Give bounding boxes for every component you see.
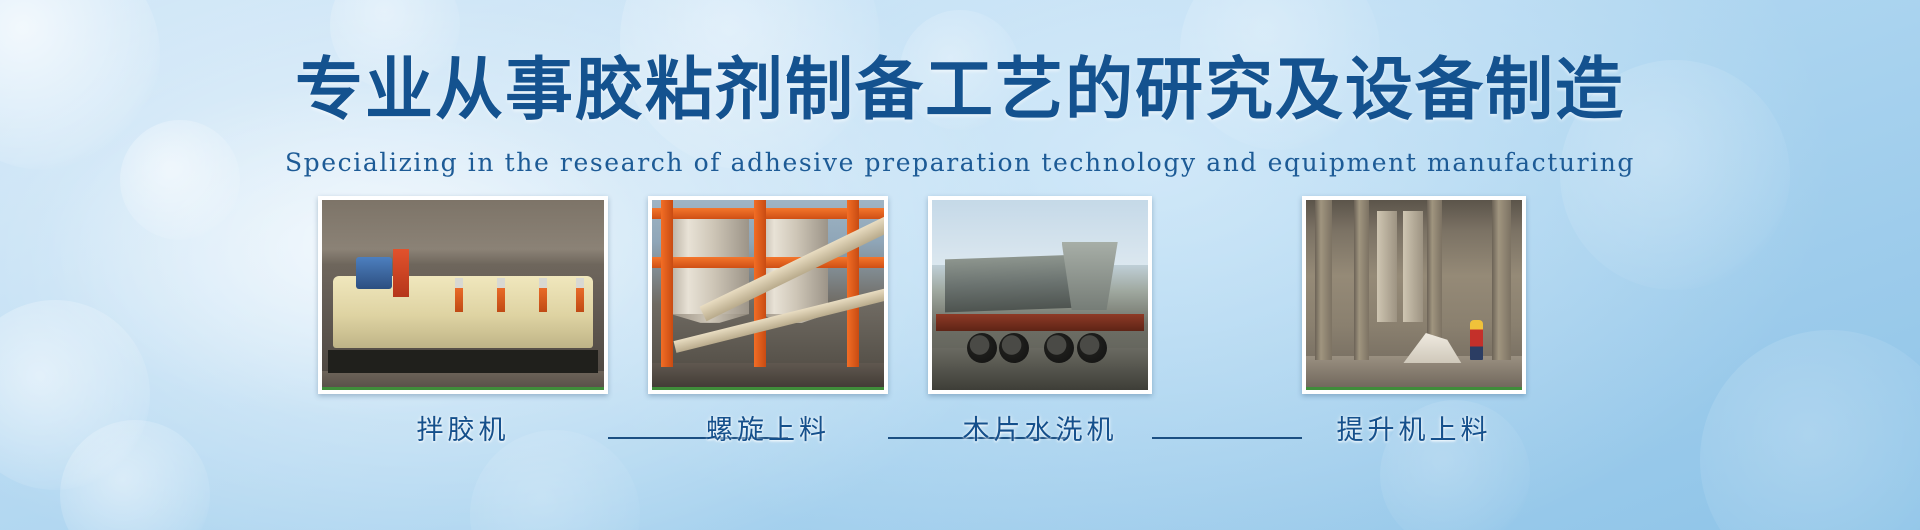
product-caption: 螺旋上料: [648, 408, 888, 447]
product-card[interactable]: 提升机上料: [1302, 196, 1526, 447]
hero-banner: 专业从事胶粘剂制备工艺的研究及设备制造 Specializing in the …: [0, 0, 1920, 530]
banner-subtitle: Specializing in the research of adhesive…: [0, 148, 1920, 177]
connector-line: [1152, 437, 1302, 439]
product-caption: 木片水洗机: [928, 408, 1152, 447]
product-card[interactable]: 拌胶机: [318, 196, 608, 447]
product-photo-wood-chip-washer[interactable]: [928, 196, 1152, 394]
product-caption: 提升机上料: [1302, 408, 1526, 447]
product-card[interactable]: 木片水洗机: [928, 196, 1152, 447]
product-photo-bucket-elevator[interactable]: [1302, 196, 1526, 394]
product-thumbnail-strip: 拌胶机 螺旋上料: [0, 196, 1920, 496]
product-photo-glue-mixer[interactable]: [318, 196, 608, 394]
product-card[interactable]: 螺旋上料: [648, 196, 888, 447]
banner-headline: 专业从事胶粘剂制备工艺的研究及设备制造: [0, 56, 1920, 124]
product-photo-screw-conveyor[interactable]: [648, 196, 888, 394]
product-caption: 拌胶机: [318, 408, 608, 447]
